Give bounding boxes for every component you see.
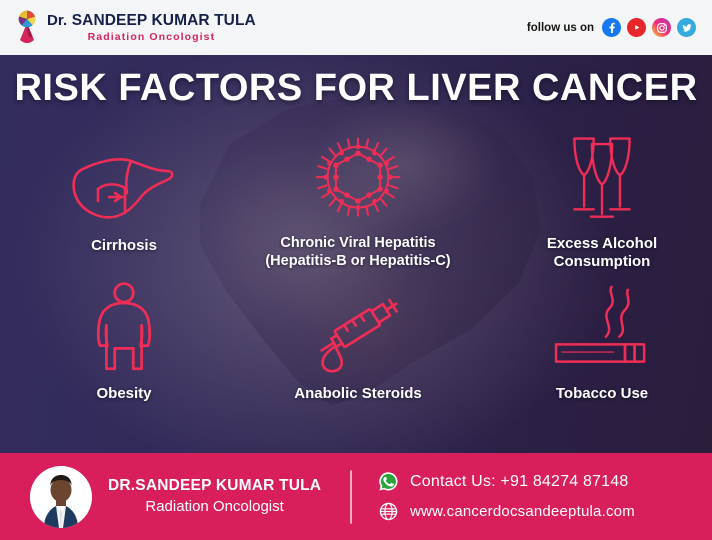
contact-block: Contact Us: +91 84274 87148 www.cancerdo… [352, 471, 635, 522]
risk-factor-label: Anabolic Steroids [250, 385, 466, 403]
risk-factor-label: Obesity [34, 385, 214, 403]
follow-label: follow us on [527, 22, 594, 34]
wine-glasses-icon [512, 133, 692, 225]
brand-text-block: Dr. SANDEEP KUMAR TULA Radiation Oncolog… [47, 13, 256, 42]
page-header: Dr. SANDEEP KUMAR TULA Radiation Oncolog… [0, 0, 712, 55]
contact-website-text: www.cancerdocsandeeptula.com [410, 503, 635, 520]
contact-phone-text: Contact Us: +91 84274 87148 [410, 473, 628, 491]
page-title: RISK FACTORS FOR LIVER CANCER [0, 69, 712, 107]
brand-name-text: SANDEEP KUMAR TULA [72, 12, 256, 29]
brand-name: Dr. SANDEEP KUMAR TULA [47, 13, 256, 29]
infographic-poster: Dr. SANDEEP KUMAR TULA Radiation Oncolog… [0, 0, 712, 540]
risk-factor-label: Cirrhosis [34, 237, 214, 255]
doctor-name: DR.SANDEEP KUMAR TULA [108, 476, 321, 495]
brand-subtitle: Radiation Oncologist [47, 32, 256, 43]
risk-factor-label: Excess Alcohol Consumption [512, 235, 692, 272]
social-follow-group: follow us on [527, 18, 696, 37]
page-footer: DR.SANDEEP KUMAR TULA Radiation Oncologi… [0, 453, 712, 540]
facebook-icon[interactable] [602, 18, 621, 37]
brand-logo[interactable]: Dr. SANDEEP KUMAR TULA Radiation Oncolog… [14, 10, 256, 46]
risk-factor-label-line2: Consumption [512, 253, 692, 271]
youtube-icon[interactable] [627, 18, 646, 37]
doctor-role: Radiation Oncologist [108, 498, 321, 517]
risk-factor-tobacco: Tobacco Use [504, 283, 700, 403]
whatsapp-icon [378, 471, 399, 492]
cigarette-icon [504, 283, 700, 375]
risk-factor-label-line1: Excess Alcohol [512, 235, 692, 253]
obese-person-icon [34, 283, 214, 375]
risk-factor-label-line1: Chronic Viral Hepatitis [238, 235, 478, 253]
risk-factor-grid: Cirrhosis [0, 133, 712, 453]
avatar [30, 466, 92, 528]
clinic-logo-icon [14, 10, 40, 46]
globe-icon [378, 501, 399, 522]
risk-factor-label-line2: (Hepatitis-B or Hepatitis-C) [238, 253, 478, 271]
risk-factor-label: Chronic Viral Hepatitis (Hepatitis-B or … [238, 235, 478, 270]
contact-phone-row[interactable]: Contact Us: +91 84274 87148 [378, 471, 635, 492]
syringe-icon [250, 283, 466, 375]
main-content: RISK FACTORS FOR LIVER CANCER [0, 55, 712, 453]
twitter-icon[interactable] [677, 18, 696, 37]
doctor-text-block: DR.SANDEEP KUMAR TULA Radiation Oncologi… [108, 476, 321, 517]
liver-icon [34, 135, 214, 227]
risk-factor-alcohol: Excess Alcohol Consumption [512, 133, 692, 272]
risk-factor-hepatitis: Chronic Viral Hepatitis (Hepatitis-B or … [238, 133, 478, 270]
brand-prefix: Dr. [47, 12, 67, 29]
doctor-identity: DR.SANDEEP KUMAR TULA Radiation Oncologi… [0, 466, 350, 528]
risk-factor-steroids: Anabolic Steroids [250, 283, 466, 403]
virus-icon [238, 133, 478, 225]
instagram-icon[interactable] [652, 18, 671, 37]
risk-factor-cirrhosis: Cirrhosis [34, 135, 214, 255]
risk-factor-label: Tobacco Use [504, 385, 700, 403]
contact-website-row[interactable]: www.cancerdocsandeeptula.com [378, 501, 635, 522]
risk-factor-obesity: Obesity [34, 283, 214, 403]
